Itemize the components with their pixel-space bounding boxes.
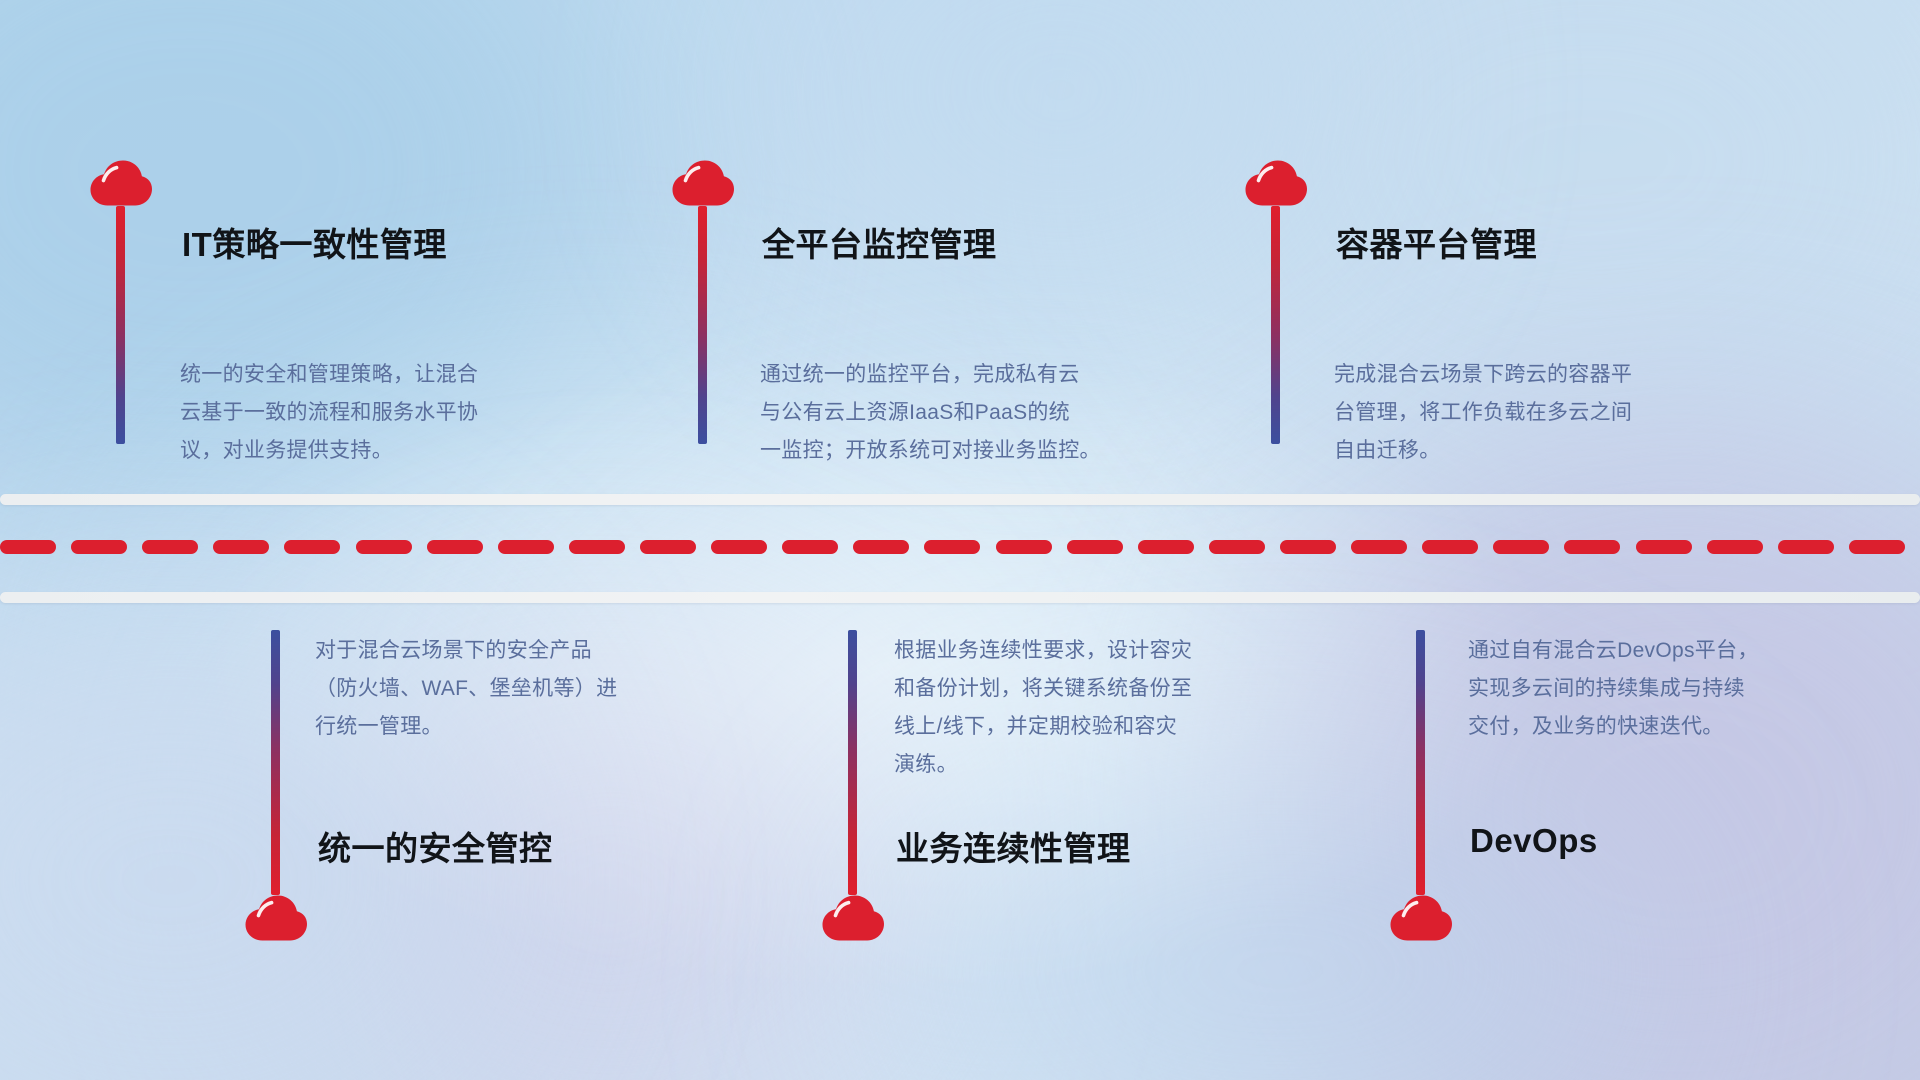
road-dash xyxy=(213,540,269,554)
cloud-marker-icon xyxy=(822,895,884,941)
column-title: DevOps xyxy=(1470,822,1598,860)
marker-top-1 xyxy=(90,160,152,444)
column-title: 全平台监控管理 xyxy=(762,218,997,266)
road-dash xyxy=(996,540,1052,554)
marker-stem xyxy=(116,206,125,444)
marker-bottom-1 xyxy=(245,630,307,941)
road-dash xyxy=(1422,540,1478,554)
road-dash xyxy=(711,540,767,554)
road-dash xyxy=(142,540,198,554)
marker-stem xyxy=(1416,630,1425,895)
marker-bottom-3 xyxy=(1390,630,1452,941)
column-body: 通过统一的监控平台，完成私有云 与公有云上资源IaaS和PaaS的统 一监控；开… xyxy=(760,356,1220,470)
column-title: IT策略一致性管理 xyxy=(182,218,447,266)
road-dash xyxy=(1778,540,1834,554)
road-dash xyxy=(1707,540,1763,554)
road-dash xyxy=(640,540,696,554)
marker-bottom-2 xyxy=(822,630,884,941)
road-dash xyxy=(569,540,625,554)
road-dash xyxy=(284,540,340,554)
road-dash xyxy=(1636,540,1692,554)
road-dash xyxy=(427,540,483,554)
cloud-marker-icon xyxy=(672,160,734,206)
column-title: 统一的安全管控 xyxy=(318,822,553,870)
column-body: 完成混合云场景下跨云的容器平 台管理，将工作负载在多云之间 自由迁移。 xyxy=(1334,356,1764,470)
road-dash xyxy=(1564,540,1620,554)
road-dash xyxy=(1280,540,1336,554)
road-dash xyxy=(1351,540,1407,554)
infographic-canvas: IT策略一致性管理 统一的安全和管理策略，让混合 云基于一致的流程和服务水平协 … xyxy=(0,0,1920,1080)
marker-stem xyxy=(271,630,280,895)
cloud-marker-icon xyxy=(245,895,307,941)
column-body: 对于混合云场景下的安全产品 （防火墙、WAF、堡垒机等）进 行统一管理。 xyxy=(315,632,745,746)
column-title: 容器平台管理 xyxy=(1336,218,1537,266)
marker-stem xyxy=(1271,206,1280,444)
road-dash xyxy=(0,540,56,554)
road-dash xyxy=(1849,540,1905,554)
road-dash xyxy=(1138,540,1194,554)
marker-top-3 xyxy=(1245,160,1307,444)
column-body: 根据业务连续性要求，设计容灾 和备份计划，将关键系统备份至 线上/线下，并定期校… xyxy=(894,632,1334,784)
road-edge-top xyxy=(0,494,1920,505)
column-body: 统一的安全和管理策略，让混合 云基于一致的流程和服务水平协 议，对业务提供支持。 xyxy=(180,356,610,470)
column-body: 通过自有混合云DevOps平台， 实现多云间的持续集成与持续 交付，及业务的快速… xyxy=(1468,632,1908,746)
road-dash xyxy=(853,540,909,554)
road-dash xyxy=(498,540,554,554)
road-dash xyxy=(782,540,838,554)
column-title: 业务连续性管理 xyxy=(896,822,1131,870)
marker-stem xyxy=(698,206,707,444)
road-edge-bottom xyxy=(0,592,1920,603)
road-dash xyxy=(1209,540,1265,554)
road-dash xyxy=(1067,540,1123,554)
marker-stem xyxy=(848,630,857,895)
cloud-marker-icon xyxy=(1390,895,1452,941)
road-center-dashes xyxy=(0,540,1920,554)
road-dash xyxy=(71,540,127,554)
marker-top-2 xyxy=(672,160,734,444)
cloud-marker-icon xyxy=(1245,160,1307,206)
cloud-marker-icon xyxy=(90,160,152,206)
road-dash xyxy=(356,540,412,554)
road-dash xyxy=(924,540,980,554)
road-dash xyxy=(1493,540,1549,554)
